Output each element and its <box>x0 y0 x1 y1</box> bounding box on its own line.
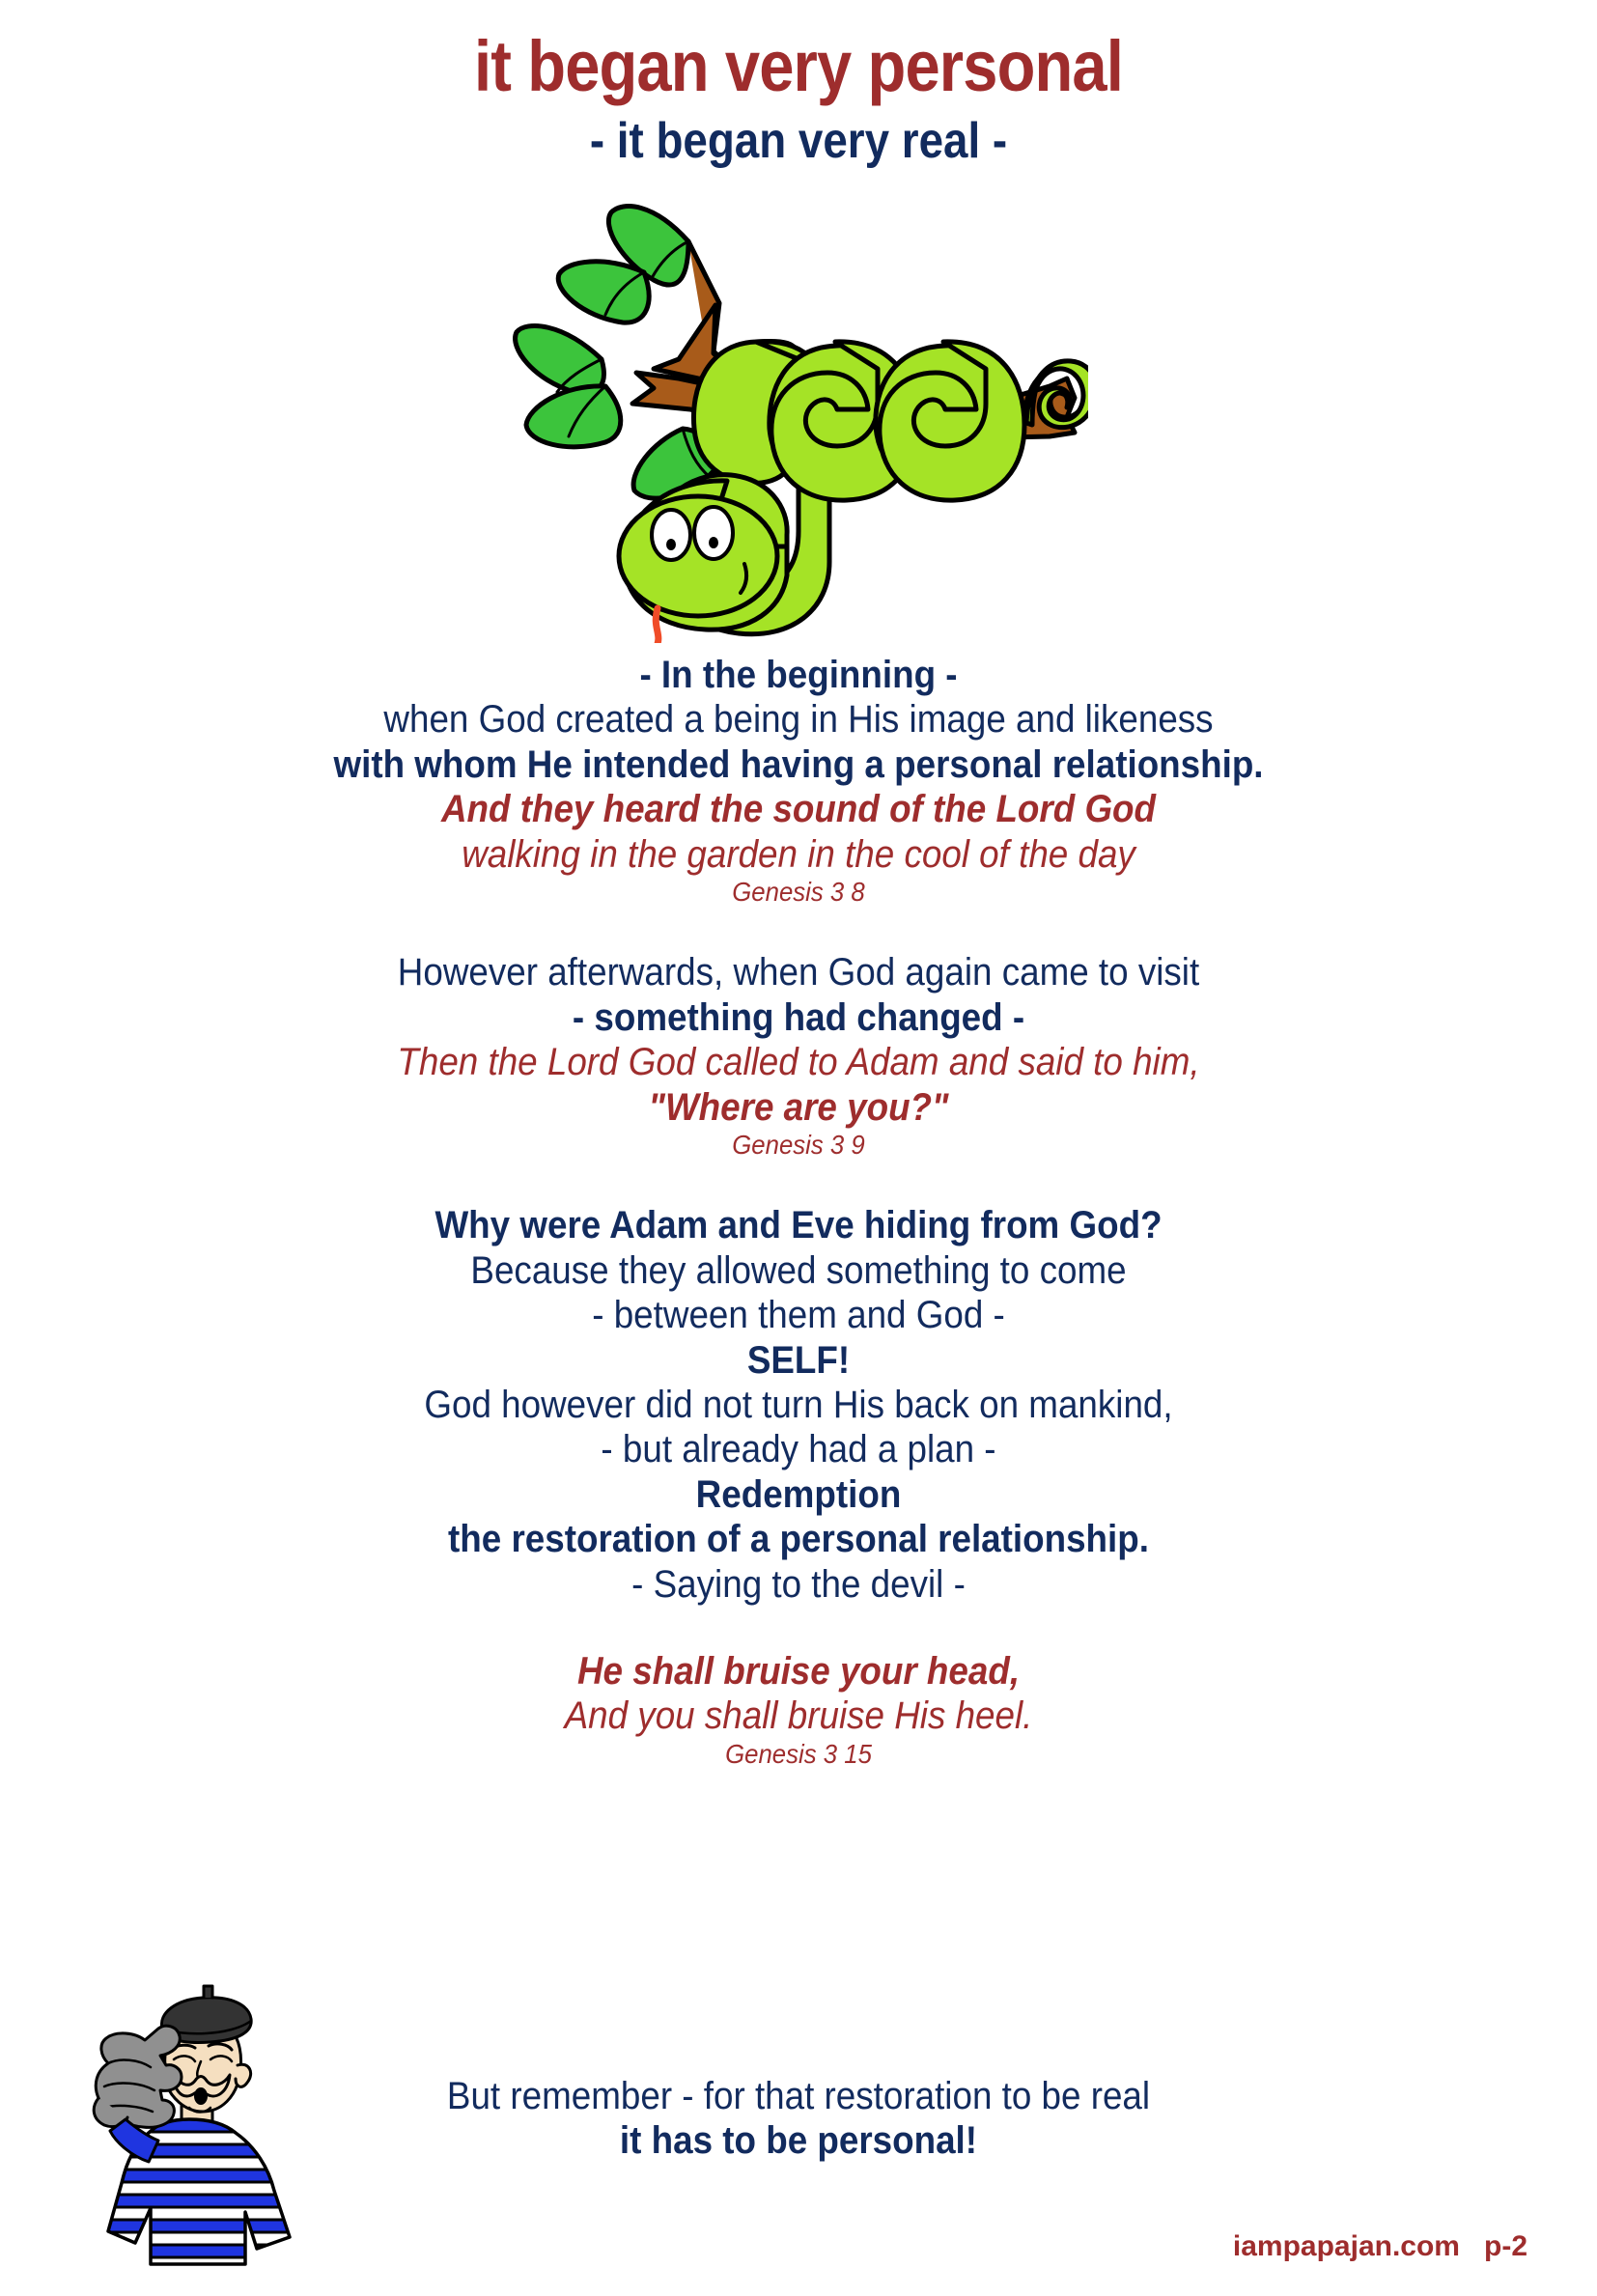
block3-line9: - Saying to the devil - <box>132 1562 1465 1607</box>
page-subtitle: - it began very real - <box>96 102 1501 166</box>
block1-scripture-line2: walking in the garden in the cool of the… <box>132 832 1465 877</box>
block2-scripture-line1: Then the Lord God called to Adam and sai… <box>132 1040 1465 1084</box>
block3-line6: - but already had a plan - <box>132 1427 1465 1471</box>
block4-scripture-line1: He shall bruise your head, <box>132 1649 1465 1694</box>
pointing-man-icon <box>66 1984 307 2274</box>
block3-line3: - between them and God - <box>132 1293 1465 1337</box>
block2-line2: - something had changed - <box>132 995 1465 1040</box>
block2-reference: Genesis 3 9 <box>132 1130 1465 1161</box>
block4-scripture-line2: And you shall bruise His heel. <box>132 1694 1465 1738</box>
block3-line8: the restoration of a personal relationsh… <box>132 1517 1465 1561</box>
snake-on-branch-icon <box>509 180 1088 643</box>
text-block-4: He shall bruise your head, And you shall… <box>74 1649 1523 1770</box>
text-block-1: - In the beginning - when God created a … <box>74 653 1523 908</box>
document-page: it began very personal - it began very r… <box>0 0 1597 2282</box>
block1-line1: - In the beginning - <box>132 653 1465 697</box>
text-block-3: Why were Adam and Eve hiding from God? B… <box>74 1203 1523 1607</box>
footer-sep <box>1460 2230 1484 2262</box>
block4-reference: Genesis 3 15 <box>132 1739 1465 1770</box>
text-block-2: However afterwards, when God again came … <box>74 950 1523 1161</box>
block1-line3: with whom He intended having a personal … <box>132 742 1465 787</box>
block3-line1: Why were Adam and Eve hiding from God? <box>132 1203 1465 1247</box>
snake-illustration <box>0 180 1597 653</box>
footer-page: p-2 <box>1484 2230 1527 2262</box>
spacer-1 <box>0 908 1597 950</box>
block2-scripture-line2: "Where are you?" <box>132 1085 1465 1130</box>
block3-line7: Redemption <box>132 1472 1465 1517</box>
block2-line1: However afterwards, when God again came … <box>132 950 1465 994</box>
block1-scripture-line1: And they heard the sound of the Lord God <box>132 787 1465 831</box>
footer-site[interactable]: iampapajan.com <box>1233 2230 1460 2262</box>
page-title: it began very personal <box>96 0 1501 102</box>
mascot-illustration <box>66 1984 307 2274</box>
block1-reference: Genesis 3 8 <box>132 877 1465 908</box>
block3-line2: Because they allowed something to come <box>132 1248 1465 1293</box>
block3-line5: God however did not turn His back on man… <box>132 1383 1465 1427</box>
block1-line2: when God created a being in His image an… <box>132 697 1465 742</box>
spacer-3 <box>0 1607 1597 1649</box>
block3-line4: SELF! <box>132 1338 1465 1383</box>
spacer-2 <box>0 1161 1597 1203</box>
